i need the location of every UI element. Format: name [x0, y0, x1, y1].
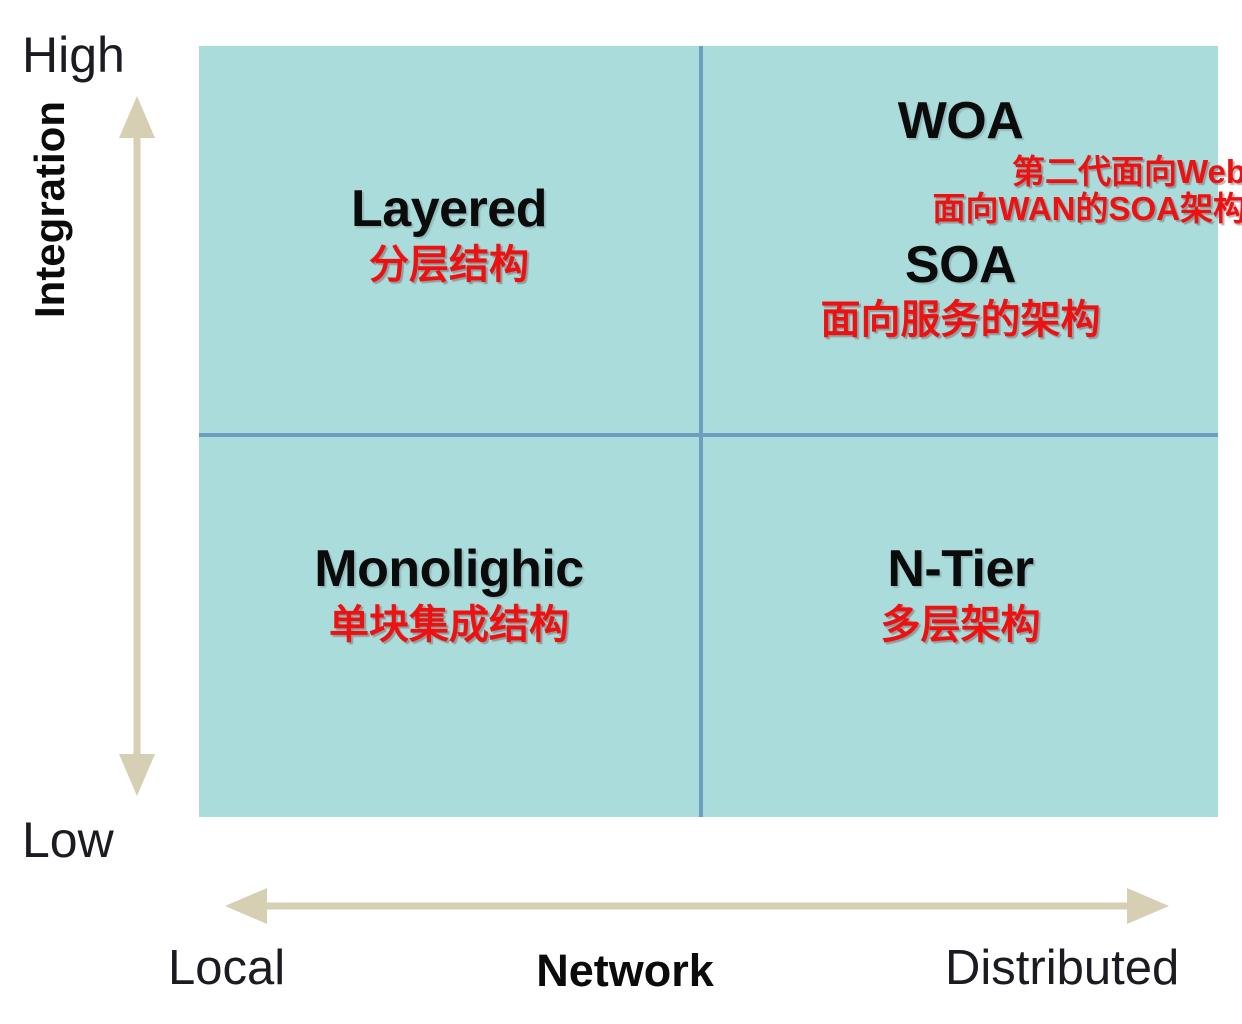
quadrant-top-right-woa-subtitle-line1: 第二代面向Web — [933, 153, 1242, 191]
x-axis-right-label: Distributed — [945, 940, 1179, 996]
quadrant-bottom-right-title: N-Tier — [887, 542, 1033, 597]
x-axis-title: Network — [497, 945, 753, 997]
quadrant-bottom-right[interactable]: N-Tier 多层架构 — [703, 437, 1218, 817]
quadrant-bottom-left[interactable]: Monolighic 单块集成结构 — [199, 437, 699, 817]
quadrant-top-right-soa-subtitle: 面向服务的架构 — [821, 298, 1101, 342]
quadrant-panel: Layered 分层结构 WOA 第二代面向Web 面向WAN的SOA架构 SO… — [199, 46, 1218, 817]
quadrant-top-right-woa-subtitle-line2: 面向WAN的SOA架构 — [933, 190, 1242, 228]
quadrant-top-left[interactable]: Layered 分层结构 — [199, 46, 699, 433]
x-axis-left-label: Local — [168, 940, 285, 996]
y-axis-low-label: Low — [22, 811, 114, 869]
y-axis-title: Integration — [26, 246, 74, 318]
quadrant-top-left-subtitle: 分层结构 — [369, 243, 529, 287]
quadrant-bottom-left-title: Monolighic — [314, 542, 583, 597]
quadrant-top-right-title-woa: WOA — [898, 94, 1024, 149]
quadrant-top-left-title: Layered — [351, 182, 547, 237]
quadrant-top-right[interactable]: WOA 第二代面向Web 面向WAN的SOA架构 SOA 面向服务的架构 — [703, 46, 1218, 433]
y-axis-double-arrow-icon — [118, 96, 156, 796]
x-axis-double-arrow-icon — [225, 886, 1169, 926]
quadrant-top-right-woa-subtitle: 第二代面向Web 面向WAN的SOA架构 — [933, 153, 1242, 228]
quadrant-top-right-title-soa: SOA — [905, 238, 1016, 293]
quadrant-bottom-left-subtitle: 单块集成结构 — [329, 603, 569, 647]
diagram-canvas: High Integration Low Layered 分层结构 WOA 第二… — [0, 0, 1242, 1024]
y-axis-high-label: High — [22, 26, 125, 84]
quadrant-bottom-right-subtitle: 多层架构 — [881, 603, 1041, 647]
